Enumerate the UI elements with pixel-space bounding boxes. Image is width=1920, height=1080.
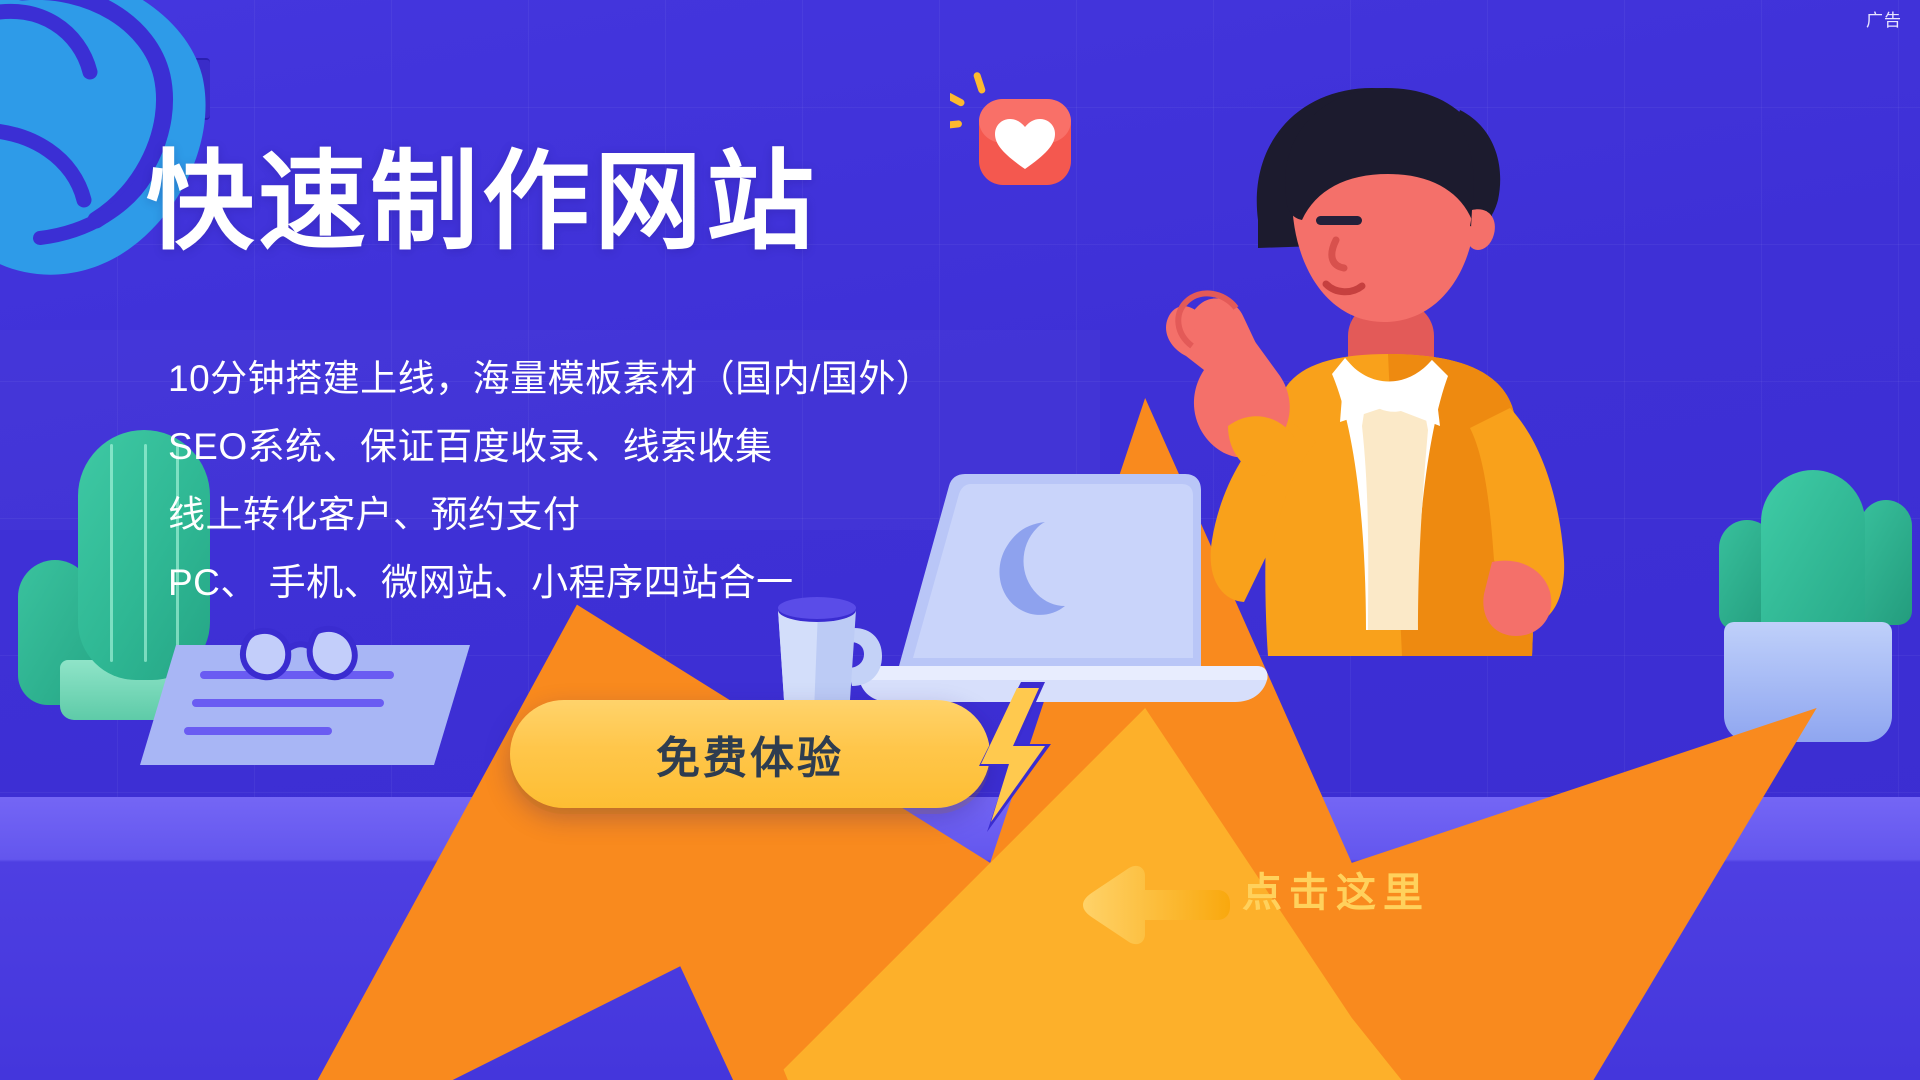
- feature-line: 线上转化客户、预约支付: [168, 481, 933, 549]
- cta-area: 免费体验: [510, 700, 990, 808]
- eyeglasses-icon: [238, 625, 368, 687]
- heart-notification-icon: [975, 95, 1075, 195]
- free-trial-button[interactable]: 免费体验: [510, 700, 990, 808]
- click-here-label: 点击这里: [1242, 860, 1430, 918]
- left-arrow-icon: [1075, 862, 1230, 948]
- free-trial-label: 免费体验: [656, 722, 844, 786]
- feature-list: 10分钟搭建上线，海量模板素材（国内/国外） SEO系统、保证百度收录、线索收集…: [168, 345, 933, 617]
- feature-line: SEO系统、保证百度收录、线索收集: [168, 413, 933, 481]
- feature-line: PC、 手机、微网站、小程序四站合一: [168, 549, 933, 617]
- feature-line: 10分钟搭建上线，海量模板素材（国内/国外）: [168, 345, 933, 413]
- ad-label: 广告: [1866, 6, 1902, 31]
- page-title: 快速制作网站: [146, 148, 818, 256]
- advertisement-banner: 广告 快速制作网站 10分钟搭建上线，海量模板素材（国内/国外） SEO系统、保…: [0, 0, 1920, 1080]
